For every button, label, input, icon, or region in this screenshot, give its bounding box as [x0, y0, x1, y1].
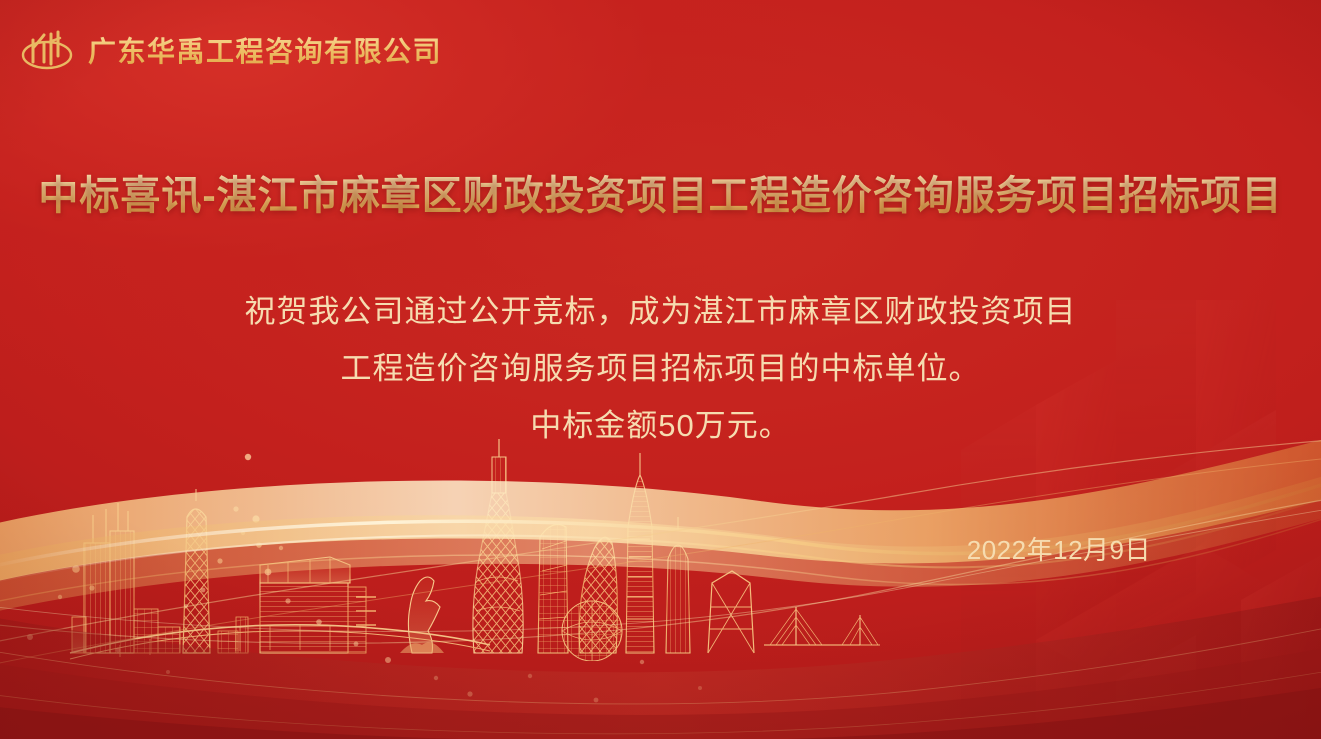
announcement-line-3: 中标金额50万元。	[0, 397, 1321, 454]
announcement-body: 祝贺我公司通过公开竞标，成为湛江市麻章区财政投资项目 工程造价咨询服务项目招标项…	[0, 283, 1321, 454]
announcement-date: 2022年12月9日	[967, 530, 1151, 567]
winning-bid-announcement-poster: 广东华禹工程咨询有限公司 中标喜讯-湛江市麻章区财政投资项目工程造价咨询服务项目…	[0, 0, 1321, 739]
page-title: 中标喜讯-湛江市麻章区财政投资项目工程造价咨询服务项目招标项目	[0, 163, 1321, 221]
announcement-line-1: 祝贺我公司通过公开竞标，成为湛江市麻章区财政投资项目	[0, 283, 1321, 340]
huayu-logo-icon	[20, 26, 74, 74]
company-name: 广东华禹工程咨询有限公司	[88, 30, 442, 70]
brand-header: 广东华禹工程咨询有限公司	[20, 26, 442, 74]
announcement-line-2: 工程造价咨询服务项目招标项目的中标单位。	[0, 340, 1321, 397]
